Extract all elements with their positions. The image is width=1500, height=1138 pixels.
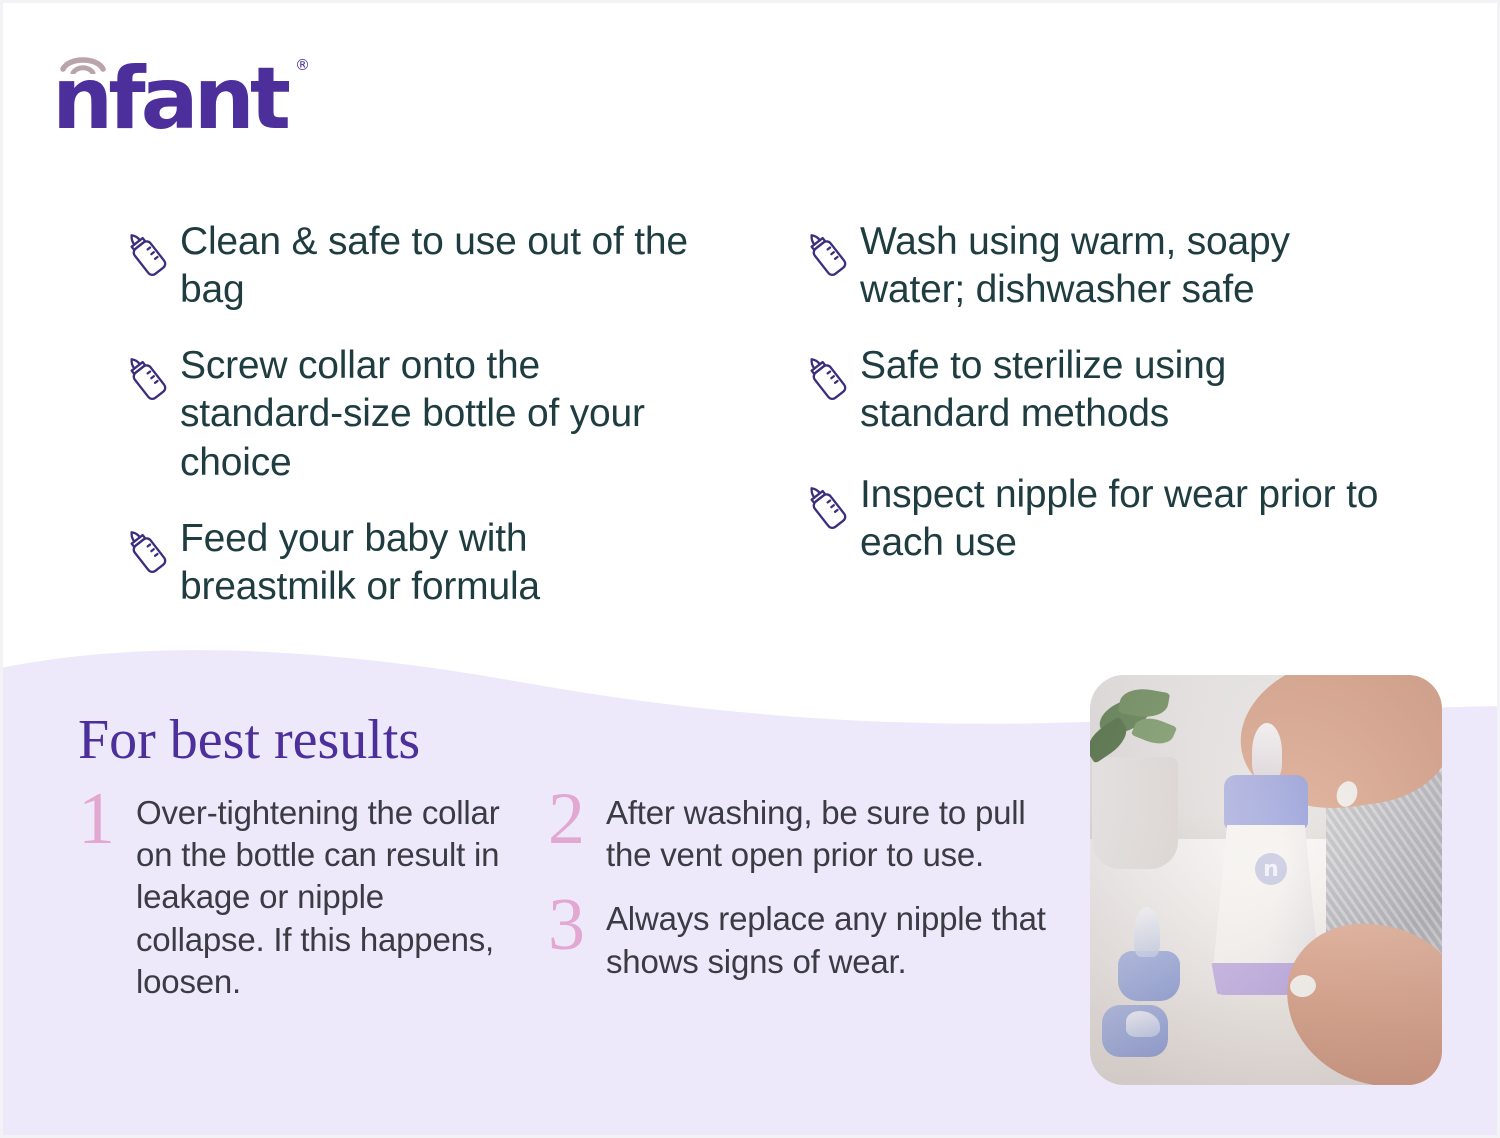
tip-number: 2 xyxy=(548,788,606,851)
feature-text: Screw collar onto the standard-size bott… xyxy=(180,338,700,486)
baby-bottle-icon xyxy=(798,479,856,537)
feature-text: Feed your baby with breastmilk or formul… xyxy=(180,511,700,611)
feature-item: Clean & safe to use out of the bag xyxy=(118,214,718,314)
tips-column-right: 2 After washing, be sure to pull the ven… xyxy=(548,792,1068,1025)
tip-text: After washing, be sure to pull the vent … xyxy=(606,792,1068,876)
feature-text: Clean & safe to use out of the bag xyxy=(180,214,700,314)
tip-item: 2 After washing, be sure to pull the ven… xyxy=(548,792,1068,876)
tip-number: 1 xyxy=(78,788,136,851)
baby-bottle-icon xyxy=(118,350,176,408)
feature-list: Clean & safe to use out of the bag Screw… xyxy=(118,214,1398,629)
feature-text: Inspect nipple for wear prior to each us… xyxy=(860,467,1380,567)
photo-scene: n xyxy=(1090,675,1442,1085)
photo-lighting-overlay xyxy=(1090,675,1442,1085)
logo-mark: nfant ® xyxy=(52,48,322,148)
feature-text: Safe to sterilize using standard methods xyxy=(860,338,1380,438)
baby-bottle-icon xyxy=(798,226,856,284)
tips-column-left: 1 Over-tightening the collar on the bott… xyxy=(78,792,508,1025)
baby-bottle-icon xyxy=(118,226,176,284)
feature-item: Feed your baby with breastmilk or formul… xyxy=(118,511,718,611)
section-title: For best results xyxy=(78,712,1078,768)
feature-column-left: Clean & safe to use out of the bag Screw… xyxy=(118,214,718,629)
tip-text: Over-tightening the collar on the bottle… xyxy=(136,792,508,1003)
feature-item: Safe to sterilize using standard methods xyxy=(798,338,1398,438)
tip-item: 3 Always replace any nipple that shows s… xyxy=(548,898,1068,982)
tip-text: Always replace any nipple that shows sig… xyxy=(606,898,1068,982)
product-photo: n xyxy=(1090,675,1442,1085)
feature-item: Screw collar onto the standard-size bott… xyxy=(118,338,718,486)
best-results-section: For best results 1 Over-tightening the c… xyxy=(78,712,1078,1025)
feature-text: Wash using warm, soapy water; dishwasher… xyxy=(860,214,1380,314)
tip-item: 1 Over-tightening the collar on the bott… xyxy=(78,792,508,1003)
feature-item: Wash using warm, soapy water; dishwasher… xyxy=(798,214,1398,314)
baby-bottle-icon xyxy=(118,523,176,581)
brand-logo: nfant ® xyxy=(52,48,322,148)
product-instruction-card: nfant ® Clean & safe to use out xyxy=(0,0,1500,1138)
registered-trademark-symbol: ® xyxy=(295,56,310,74)
feature-item: Inspect nipple for wear prior to each us… xyxy=(798,467,1398,567)
tip-number: 3 xyxy=(548,894,606,957)
baby-bottle-icon xyxy=(798,350,856,408)
tips-list: 1 Over-tightening the collar on the bott… xyxy=(78,792,1078,1025)
logo-wordmark: nfant xyxy=(52,56,286,142)
feature-column-right: Wash using warm, soapy water; dishwasher… xyxy=(798,214,1398,629)
